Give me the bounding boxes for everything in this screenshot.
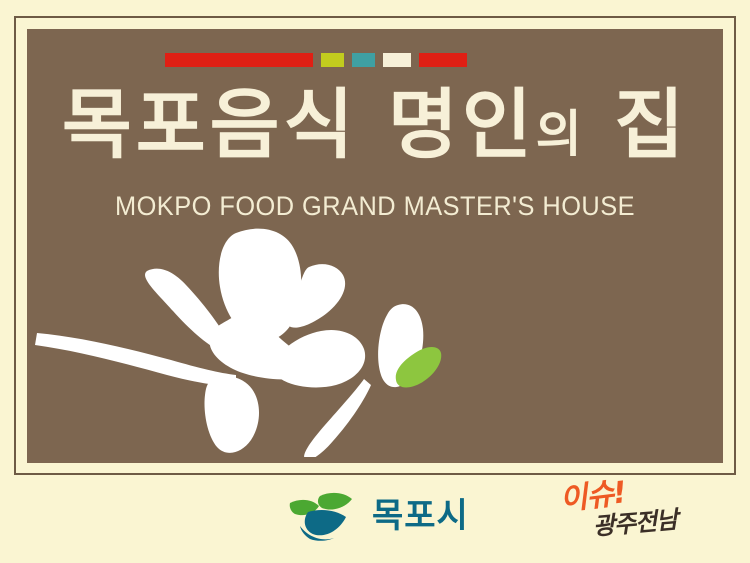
cream-chip: [383, 53, 411, 67]
title-korean-tail: 집: [614, 80, 688, 169]
red-short-bar: [419, 53, 467, 67]
mokpo-city-bird-mark-icon: [288, 490, 362, 542]
footer-logo-row: 목포시 이슈! 광주전남: [0, 484, 750, 559]
issue-gwangju-jeonnam-logo[interactable]: 이슈! 광주전남: [558, 484, 708, 554]
brown-panel: 목포음식 명인의 집 MOKPO FOOD GRAND MASTER'S HOU…: [27, 29, 723, 463]
page-subtitle-english: MOKPO FOOD GRAND MASTER'S HOUSE: [48, 191, 702, 222]
yellow-green-chip: [321, 53, 344, 67]
title-korean-particle: 의: [536, 105, 584, 163]
magnolia-flower-icon: [27, 227, 461, 457]
page-title-korean: 목포음식 명인의 집: [27, 87, 723, 163]
issue-logo-line2: 광주전남: [592, 508, 678, 539]
color-chip-bar: [165, 53, 467, 67]
mokpo-city-wordmark: 목포시: [372, 499, 469, 533]
red-long-bar: [165, 53, 313, 67]
signboard-poster: 목포음식 명인의 집 MOKPO FOOD GRAND MASTER'S HOU…: [0, 0, 750, 563]
title-korean-main: 목포음식 명인: [62, 80, 536, 169]
mokpo-city-logo[interactable]: 목포시: [288, 490, 469, 542]
teal-chip: [352, 53, 375, 67]
